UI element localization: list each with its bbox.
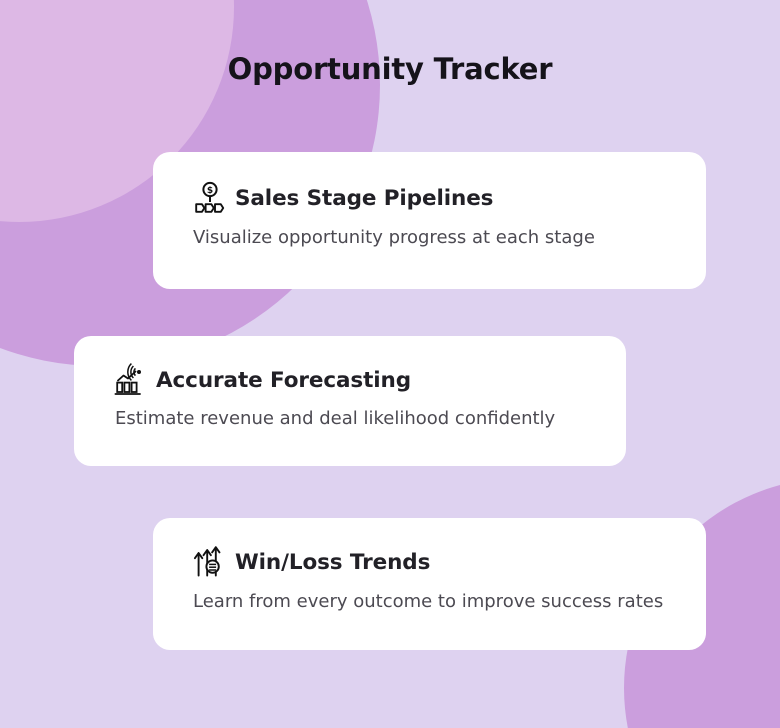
card-header: $ Sales Stage Pipelines: [153, 152, 706, 215]
card-title: Win/Loss Trends: [235, 550, 430, 575]
card-title: Accurate Forecasting: [156, 368, 411, 393]
page-root: Opportunity Tracker $ Sales Stage Pipeli…: [0, 0, 780, 728]
card-description: Learn from every outcome to improve succ…: [153, 579, 706, 612]
forecast-target-chart-icon: [114, 363, 148, 397]
svg-text:$: $: [207, 186, 213, 196]
card-description: Visualize opportunity progress at each s…: [153, 215, 706, 248]
sales-pipeline-icon: $: [193, 181, 227, 215]
feature-card-accurate-forecasting[interactable]: Accurate Forecasting Estimate revenue an…: [74, 336, 626, 466]
feature-card-win-loss-trends[interactable]: Win/Loss Trends Learn from every outcome…: [153, 518, 706, 650]
page-title: Opportunity Tracker: [0, 52, 780, 86]
card-header: Accurate Forecasting: [74, 336, 626, 397]
card-header: Win/Loss Trends: [153, 518, 706, 579]
feature-card-sales-stage-pipelines[interactable]: $ Sales Stage Pipelines Visualize opport…: [153, 152, 706, 289]
card-description: Estimate revenue and deal likelihood con…: [74, 397, 626, 429]
card-title: Sales Stage Pipelines: [235, 186, 493, 211]
win-loss-arrows-icon: [193, 545, 227, 579]
